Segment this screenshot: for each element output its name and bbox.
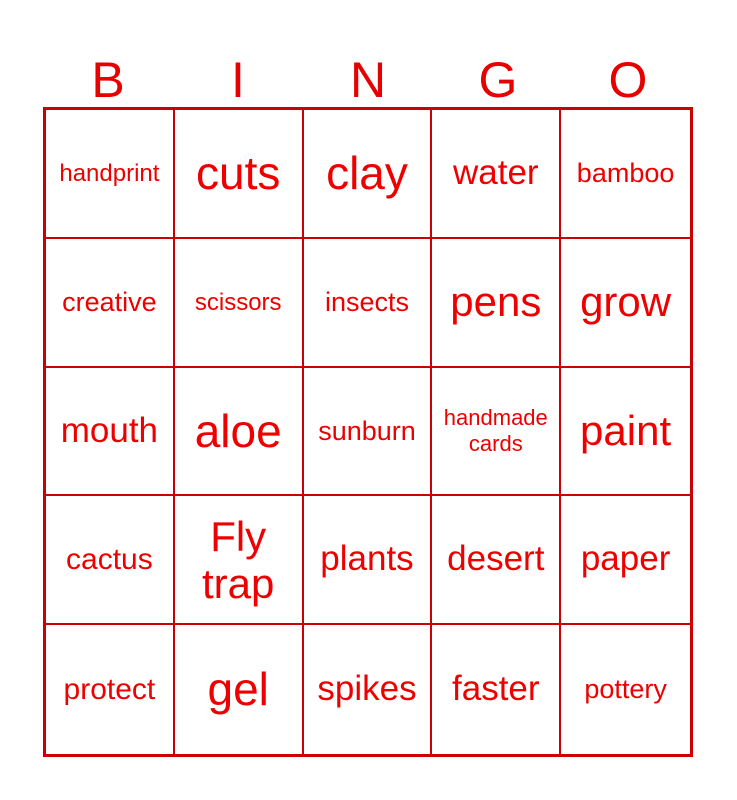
- bingo-cell-label: sunburn: [307, 417, 428, 445]
- header-letter-b: B: [43, 36, 173, 106]
- bingo-cell-label: faster: [435, 671, 556, 708]
- header-letter-g: G: [433, 36, 563, 106]
- bingo-cell[interactable]: plants: [304, 496, 433, 625]
- bingo-cell[interactable]: paper: [561, 496, 690, 625]
- bingo-cell[interactable]: scissors: [175, 239, 304, 368]
- bingo-cell-label: aloe: [178, 407, 299, 455]
- bingo-cell-label: grow: [564, 280, 687, 324]
- bingo-cell[interactable]: handmade cards: [432, 368, 561, 497]
- bingo-cell[interactable]: aloe: [175, 368, 304, 497]
- bingo-cell[interactable]: desert: [432, 496, 561, 625]
- bingo-cell[interactable]: water: [432, 110, 561, 239]
- bingo-cell[interactable]: cuts: [175, 110, 304, 239]
- header-letter-n: N: [303, 36, 433, 106]
- bingo-cell-label: Fly trap: [178, 513, 299, 607]
- bingo-cell[interactable]: protect: [46, 625, 175, 754]
- bingo-cell-label: paper: [564, 541, 687, 578]
- bingo-cell-label: bamboo: [564, 159, 687, 187]
- bingo-cell-label: plants: [307, 541, 428, 578]
- header-letter-o: O: [563, 36, 693, 106]
- bingo-cell[interactable]: pens: [432, 239, 561, 368]
- bingo-cell-label: cactus: [49, 544, 170, 576]
- bingo-grid: handprintcutsclaywaterbamboocreativescis…: [43, 107, 693, 757]
- bingo-cell-label: scissors: [178, 290, 299, 315]
- bingo-cell[interactable]: faster: [432, 625, 561, 754]
- bingo-cell-label: pottery: [564, 675, 687, 703]
- bingo-cell[interactable]: insects: [304, 239, 433, 368]
- bingo-cell-label: creative: [49, 288, 170, 316]
- bingo-cell[interactable]: pottery: [561, 625, 690, 754]
- bingo-cell-label: gel: [178, 665, 299, 713]
- bingo-cell-label: water: [435, 155, 556, 192]
- bingo-cell-label: handmade cards: [435, 405, 556, 457]
- bingo-cell-label: clay: [307, 149, 428, 197]
- bingo-cell[interactable]: paint: [561, 368, 690, 497]
- bingo-cell[interactable]: sunburn: [304, 368, 433, 497]
- bingo-cell[interactable]: cactus: [46, 496, 175, 625]
- bingo-cell-label: paint: [564, 409, 687, 453]
- bingo-cell[interactable]: bamboo: [561, 110, 690, 239]
- bingo-cell-label: spikes: [307, 671, 428, 708]
- bingo-cell-label: insects: [307, 288, 428, 316]
- bingo-cell[interactable]: creative: [46, 239, 175, 368]
- bingo-cell[interactable]: clay: [304, 110, 433, 239]
- bingo-header-row: B I N G O: [43, 36, 693, 106]
- bingo-cell[interactable]: grow: [561, 239, 690, 368]
- bingo-cell-label: desert: [435, 541, 556, 578]
- bingo-cell[interactable]: handprint: [46, 110, 175, 239]
- bingo-cell[interactable]: Fly trap: [175, 496, 304, 625]
- bingo-cell-label: cuts: [178, 149, 299, 197]
- bingo-cell-label: mouth: [49, 413, 170, 450]
- header-letter-i: I: [173, 36, 303, 106]
- bingo-cell-label: pens: [435, 280, 556, 324]
- bingo-cell[interactable]: gel: [175, 625, 304, 754]
- bingo-cell-label: handprint: [49, 161, 170, 186]
- bingo-cell[interactable]: spikes: [304, 625, 433, 754]
- bingo-cell-label: protect: [49, 674, 170, 706]
- bingo-card: B I N G O handprintcutsclaywaterbamboocr…: [0, 0, 737, 800]
- bingo-cell[interactable]: mouth: [46, 368, 175, 497]
